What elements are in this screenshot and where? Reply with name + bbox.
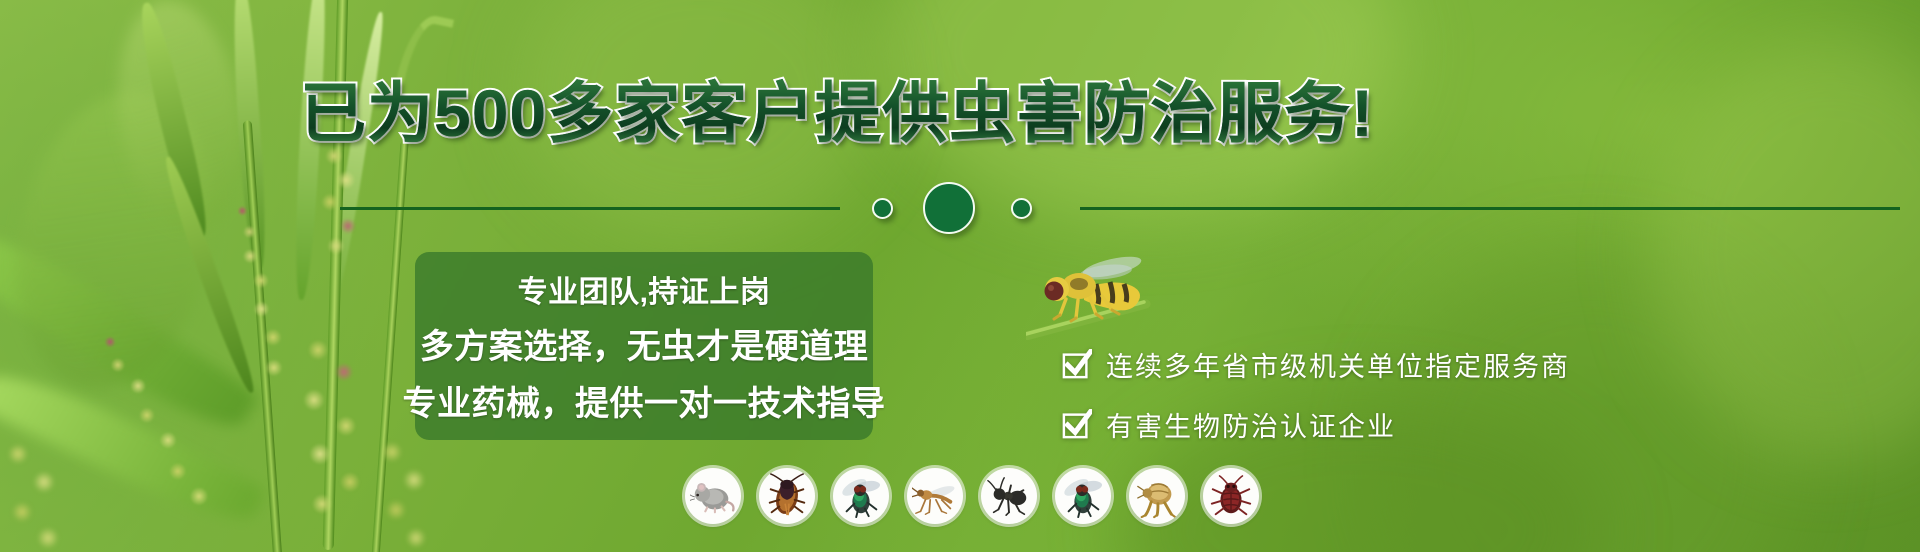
plant-flower-spike	[372, 430, 442, 552]
list-item: 有害生物防治认证企业	[1062, 400, 1570, 448]
slogan-line-2: 多方案选择，无虫才是硬道理	[420, 319, 869, 368]
divider-right	[1080, 207, 1900, 210]
fly-icon[interactable]	[833, 468, 889, 524]
flea-icon[interactable]	[1129, 468, 1185, 524]
divider-left	[340, 207, 840, 210]
plant-flower-spike	[288, 330, 378, 520]
page-title: 已为500多家客户提供虫害防治服务!	[300, 76, 1600, 150]
slogan-panel: 专业团队,持证上岗 多方案选择，无虫才是硬道理 专业药械，提供一对一技术指导	[415, 252, 873, 440]
pest-control-banner: 已为500多家客户提供虫害防治服务! 已为500多家客户提供虫害防治服务! 专业…	[0, 0, 1920, 552]
rodent-icon[interactable]	[685, 468, 741, 524]
ornament-dot-large	[923, 182, 975, 234]
hoverfly-photo	[1026, 244, 1176, 340]
bedbug-icon[interactable]	[1203, 468, 1259, 524]
checkbox-check-icon	[1062, 409, 1092, 439]
slogan-line-1: 专业团队,持证上岗	[518, 267, 771, 311]
ant-icon[interactable]	[981, 468, 1037, 524]
list-item-label: 连续多年省市级机关单位指定服务商	[1106, 345, 1570, 384]
ornament-dot-small-left	[872, 198, 893, 219]
pest-icon-row	[685, 468, 1259, 524]
plant-flower-spike	[0, 430, 80, 552]
list-item-label: 有害生物防治认证企业	[1106, 405, 1396, 444]
slogan-line-3: 专业药械，提供一对一技术指导	[403, 376, 886, 425]
list-item: 连续多年省市级机关单位指定服务商	[1062, 340, 1570, 388]
mosquito-icon[interactable]	[907, 468, 963, 524]
checkbox-check-icon	[1062, 349, 1092, 379]
ornament-dot-small-right	[1011, 198, 1032, 219]
fly-icon-2[interactable]	[1055, 468, 1111, 524]
plant-flower-spike	[312, 140, 372, 260]
cockroach-icon[interactable]	[759, 468, 815, 524]
feature-bullet-list: 连续多年省市级机关单位指定服务商 有害生物防治认证企业	[1062, 340, 1570, 460]
